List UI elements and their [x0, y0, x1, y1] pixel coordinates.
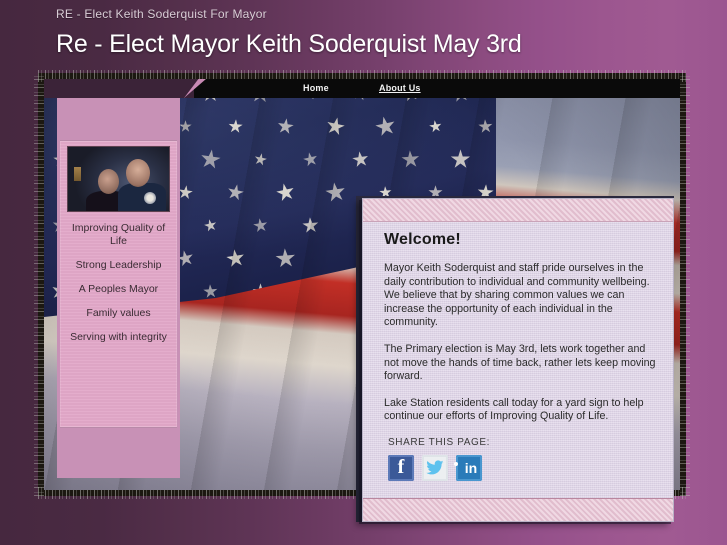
- twitter-icon[interactable]: [422, 455, 448, 481]
- sidebar-item-a-peoples-mayor[interactable]: A Peoples Mayor: [60, 283, 177, 296]
- page-title: Re - Elect Mayor Keith Soderquist May 3r…: [56, 30, 522, 59]
- panel-bottom-strip: [363, 498, 673, 521]
- page-root: RE - Elect Keith Soderquist For Mayor Re…: [0, 0, 727, 545]
- facebook-icon[interactable]: f: [388, 455, 414, 481]
- nav-item-home[interactable]: Home: [303, 83, 329, 93]
- photo-lamp-detail: [74, 167, 81, 181]
- photo-person-right-body: [118, 183, 166, 212]
- welcome-heading: Welcome!: [384, 231, 657, 249]
- welcome-paragraph-1: Mayor Keith Soderquist and staff pride o…: [384, 262, 657, 330]
- welcome-paragraph-2: The Primary election is May 3rd, lets wo…: [384, 343, 657, 384]
- share-label: SHARE THIS PAGE:: [388, 437, 657, 448]
- twitter-bird-icon: [426, 460, 444, 475]
- photo-person-left-face: [98, 169, 119, 194]
- linkedin-icon[interactable]: in: [456, 455, 482, 481]
- sidebar-item-serving-with-integrity[interactable]: Serving with integrity: [60, 331, 177, 344]
- nav-left-block: [44, 79, 194, 98]
- sidebar-item-improving-quality-of-life[interactable]: Improving Quality of Life: [60, 222, 177, 248]
- nav-item-about-us[interactable]: About Us: [379, 83, 421, 93]
- welcome-paragraph-3: Lake Station residents call today for a …: [384, 397, 657, 424]
- sidebar-item-strong-leadership[interactable]: Strong Leadership: [60, 259, 177, 272]
- avatar: [67, 146, 170, 212]
- linkedin-dot-icon: [454, 462, 458, 466]
- linkedin-label: in: [465, 460, 477, 476]
- sidebar-menu: Improving Quality of Life Strong Leaders…: [60, 222, 177, 355]
- grunge-border-right: [680, 73, 690, 496]
- share-icons-row: f in: [388, 455, 657, 481]
- photo-person-right-face: [126, 159, 150, 187]
- browser-title: RE - Elect Keith Soderquist For Mayor: [56, 7, 267, 21]
- sidebar: Improving Quality of Life Strong Leaders…: [57, 88, 180, 478]
- sidebar-item-family-values[interactable]: Family values: [60, 307, 177, 320]
- welcome-content: Welcome! Mayor Keith Soderquist and staf…: [384, 231, 657, 481]
- photo-campaign-button-icon: [144, 192, 156, 204]
- grunge-border-left: [34, 73, 44, 496]
- panel-top-strip: [363, 199, 673, 222]
- welcome-panel: Welcome! Mayor Keith Soderquist and staf…: [362, 198, 674, 522]
- main-navigation: Home About Us: [44, 79, 680, 98]
